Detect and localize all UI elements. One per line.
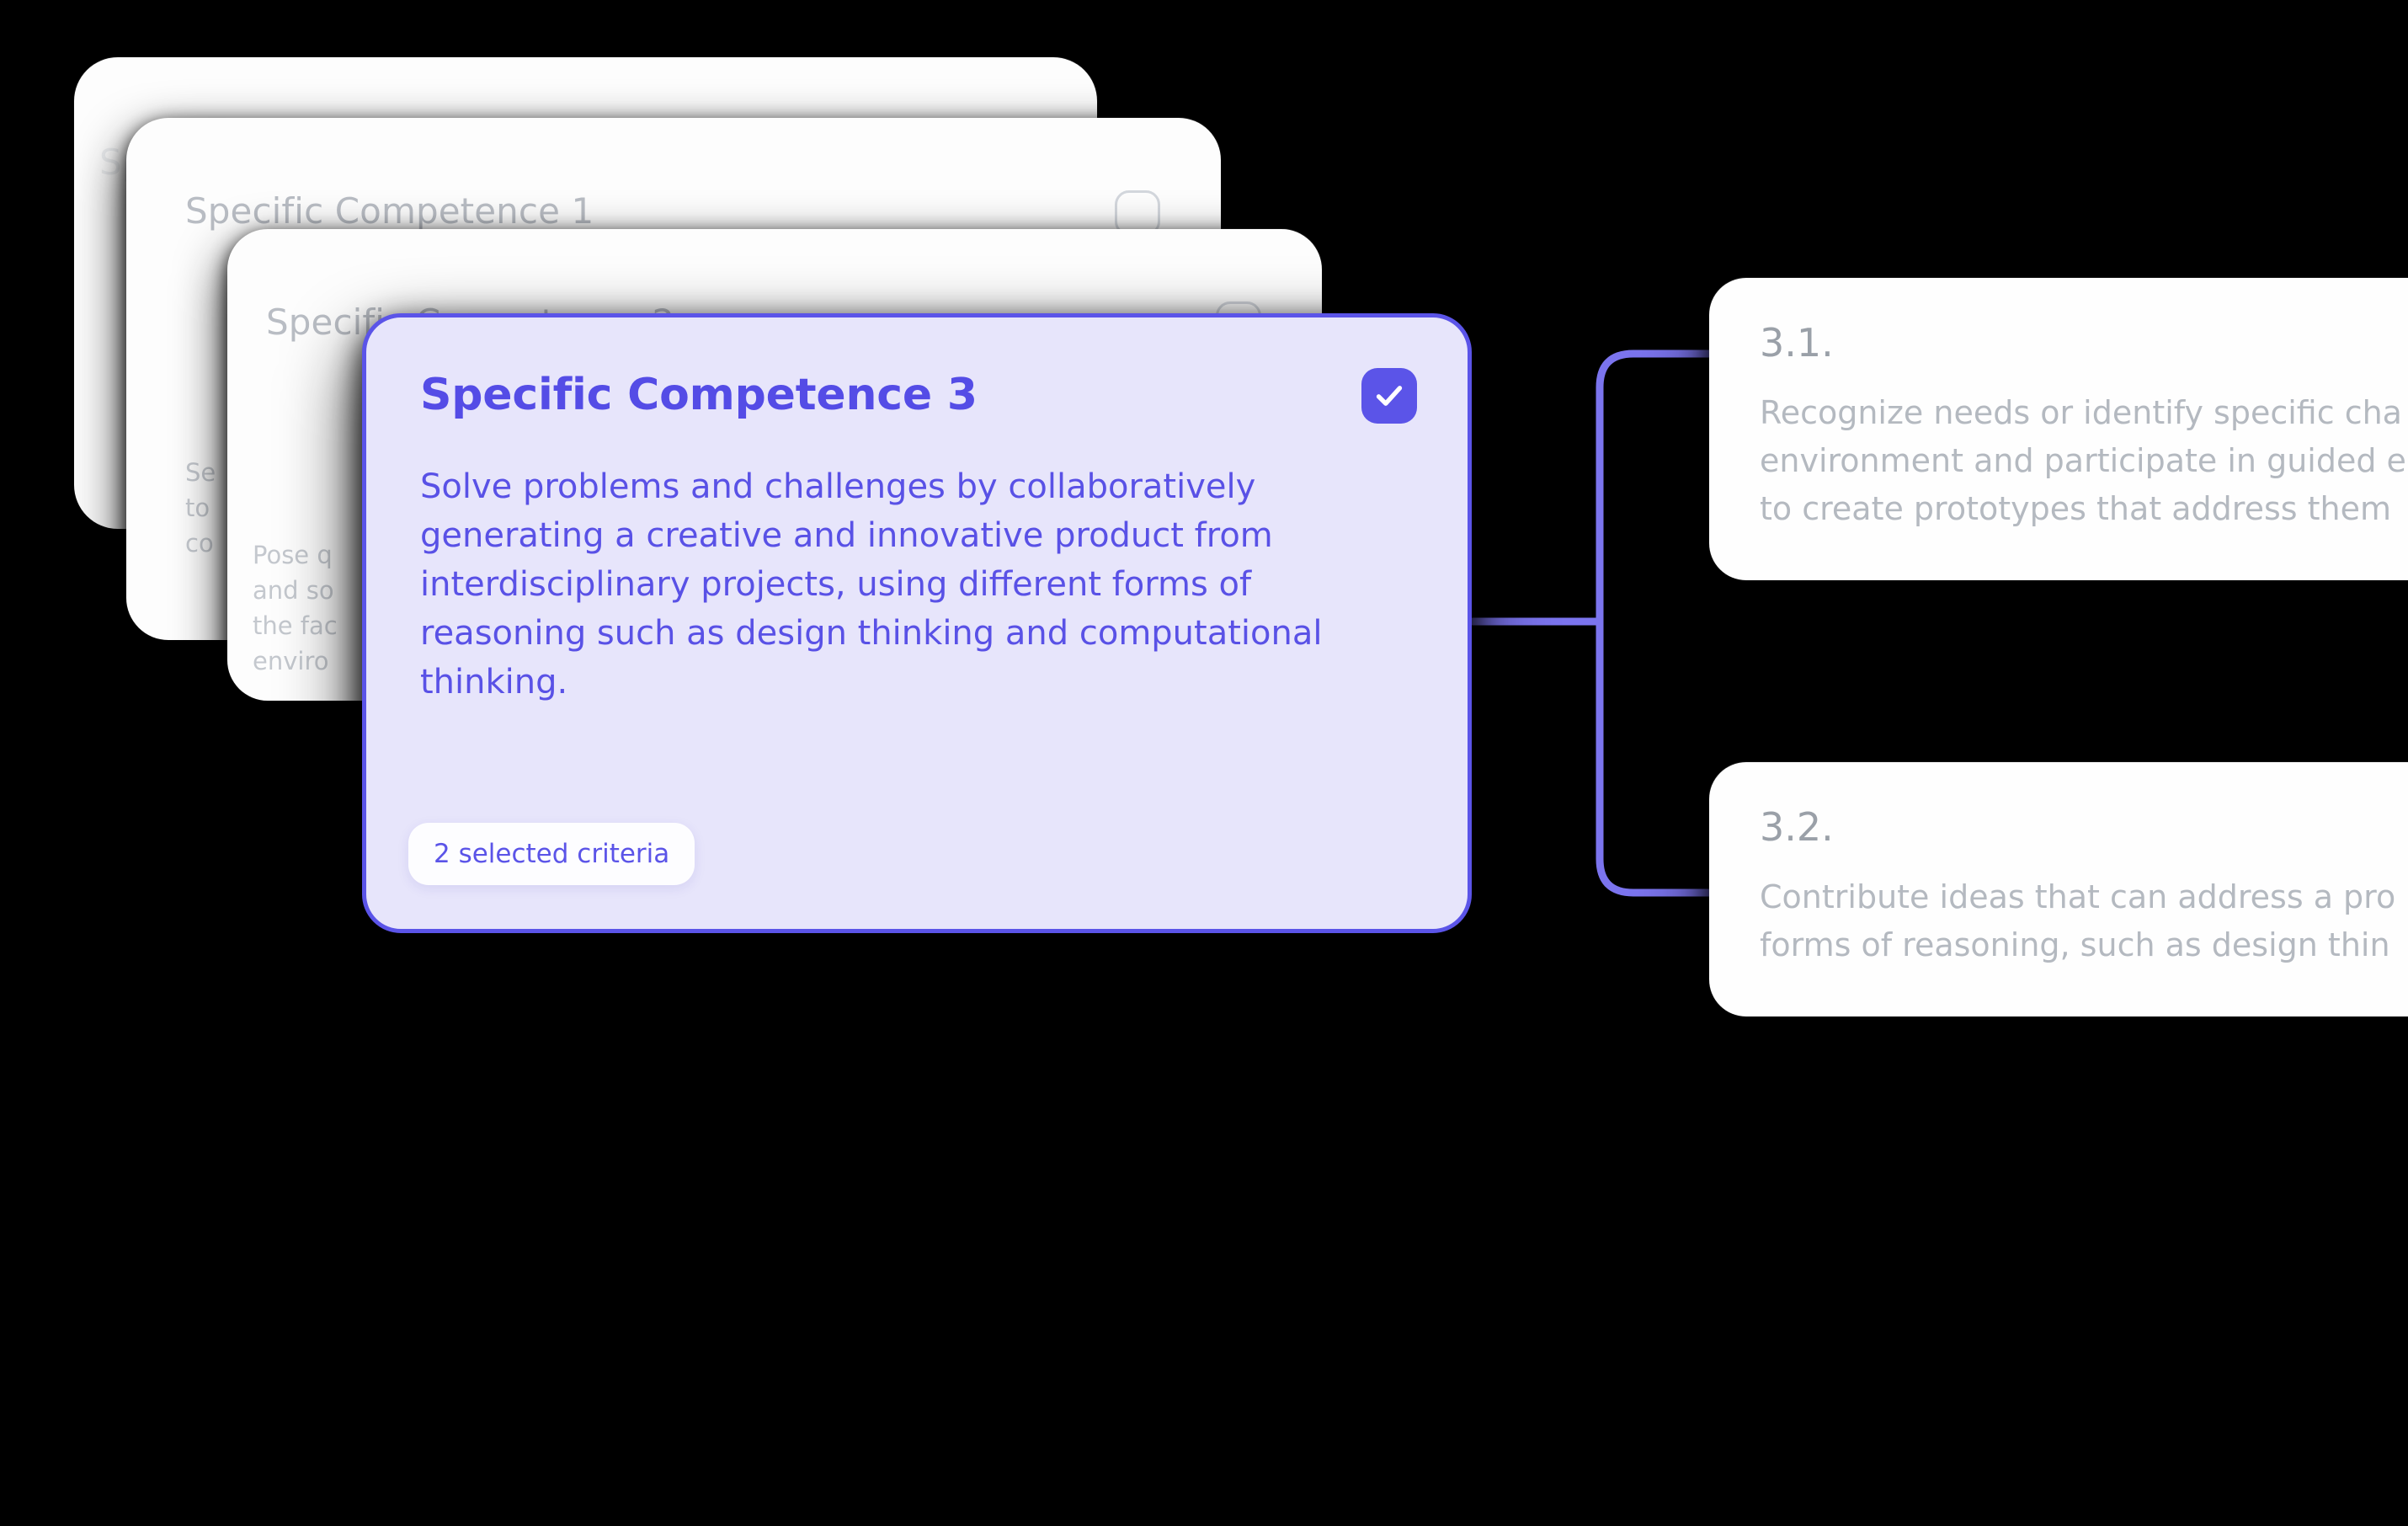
check-icon: [1372, 379, 1406, 413]
checkbox-checked[interactable]: [1361, 368, 1417, 424]
active-card-competence-3[interactable]: Specific Competence 3 Solve problems and…: [362, 313, 1472, 933]
criterion-card-3-1[interactable]: 3.1. Recognize needs or identify specifi…: [1709, 278, 2408, 580]
canvas-root: Specific Competence 4 Specific Competenc…: [0, 0, 2408, 1526]
stack-card-body: Se to co: [185, 455, 216, 561]
active-card-description: Solve problems and challenges by collabo…: [420, 462, 1372, 707]
criterion-text: Contribute ideas that can address a pro …: [1760, 873, 2408, 969]
stack-card-title: Specific Competence 1: [185, 190, 594, 232]
stack-card-body: Pose q and so the fac enviro: [253, 537, 338, 679]
criterion-card-3-2[interactable]: 3.2. Contribute ideas that can address a…: [1709, 762, 2408, 1016]
selected-criteria-badge[interactable]: 2 selected criteria: [408, 823, 695, 885]
active-card-title: Specific Competence 3: [420, 370, 978, 420]
criterion-text: Recognize needs or identify specific cha…: [1760, 389, 2408, 533]
criterion-code: 3.1.: [1760, 323, 2408, 362]
criterion-code: 3.2.: [1760, 808, 2408, 846]
